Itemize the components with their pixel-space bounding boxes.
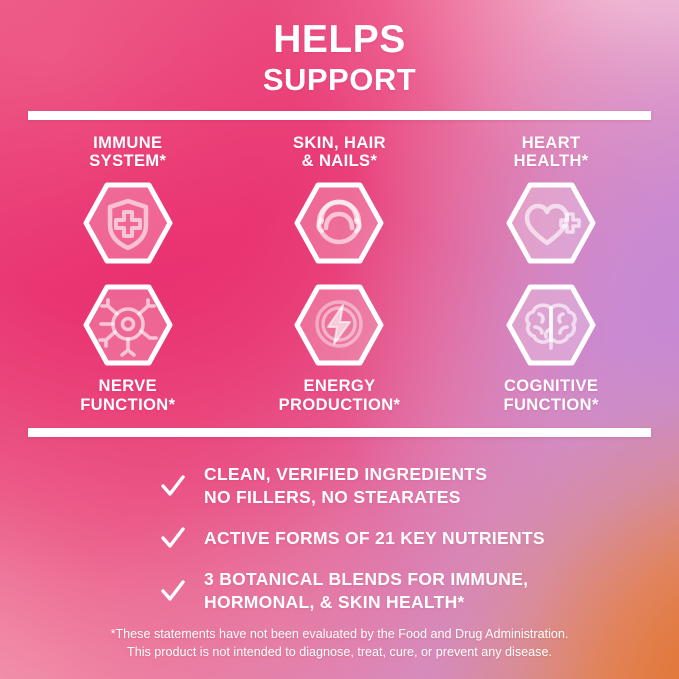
check-item-label: ACTIVE FORMS OF 21 KEY NUTRIENTS: [204, 527, 545, 549]
hexagon-heart-health: [505, 180, 597, 266]
benefit-label: IMMUNE SYSTEM*: [89, 134, 166, 171]
hexagon-energy-production: [293, 282, 385, 368]
shield-plus-icon: [82, 180, 174, 266]
benefit-row-1: IMMUNE SYSTEM* SKIN, HAIR & NAILS*: [22, 134, 657, 266]
benefit-label: ENERGY PRODUCTION*: [279, 377, 401, 414]
hexagon-skin-hair-nails: [293, 180, 385, 266]
hexagon-immune-system: [82, 180, 174, 266]
benefit-label: SKIN, HAIR & NAILS*: [293, 134, 386, 171]
hexagon-cognitive-function: [505, 282, 597, 368]
benefits-section: IMMUNE SYSTEM* SKIN, HAIR & NAILS*: [0, 120, 679, 415]
benefit-nerve-function: NERVE FUNCTION*: [33, 282, 223, 414]
check-item-label: 3 BOTANICAL BLENDS FOR IMMUNE, HORMONAL,…: [204, 568, 528, 613]
benefit-energy-production: ENERGY PRODUCTION*: [244, 282, 434, 414]
benefit-skin-hair-nails: SKIN, HAIR & NAILS*: [244, 134, 434, 266]
check-item: CLEAN, VERIFIED INGREDIENTS NO FILLERS, …: [160, 463, 487, 508]
hexagon-nerve-function: [82, 282, 174, 368]
neuron-icon: [82, 282, 174, 368]
benefit-heart-health: HEART HEALTH*: [456, 134, 646, 266]
check-item: 3 BOTANICAL BLENDS FOR IMMUNE, HORMONAL,…: [160, 568, 528, 613]
lightning-bolt-icon: [293, 282, 385, 368]
header-title-line-2: SUPPORT: [0, 64, 679, 96]
brain-icon: [505, 282, 597, 368]
benefit-label: HEART HEALTH*: [514, 134, 589, 171]
header-title-line-1: HELPS: [0, 20, 679, 61]
benefit-label: NERVE FUNCTION*: [80, 377, 175, 414]
checkmark-icon: [160, 525, 186, 551]
disclaimer-text: *These statements have not been evaluate…: [0, 625, 679, 662]
check-item-label: CLEAN, VERIFIED INGREDIENTS NO FILLERS, …: [204, 463, 487, 508]
benefit-cognitive-function: COGNITIVE FUNCTION*: [456, 282, 646, 414]
heart-plus-icon: [505, 180, 597, 266]
divider-top: [28, 111, 651, 120]
benefit-label: COGNITIVE FUNCTION*: [504, 377, 599, 414]
check-item: ACTIVE FORMS OF 21 KEY NUTRIENTS: [160, 525, 545, 551]
checkmark-icon: [160, 473, 186, 499]
infographic-page: HELPS SUPPORT IMMUNE SYSTEM* SKIN, HAIR …: [0, 0, 679, 679]
checklist-section: CLEAN, VERIFIED INGREDIENTS NO FILLERS, …: [160, 437, 679, 613]
benefit-row-2: NERVE FUNCTION* ENERGY PRODUCTION*: [22, 282, 657, 414]
checkmark-icon: [160, 578, 186, 604]
divider-bottom: [28, 428, 651, 437]
benefit-immune-system: IMMUNE SYSTEM*: [33, 134, 223, 266]
header: HELPS SUPPORT: [0, 0, 679, 96]
face-head-icon: [293, 180, 385, 266]
